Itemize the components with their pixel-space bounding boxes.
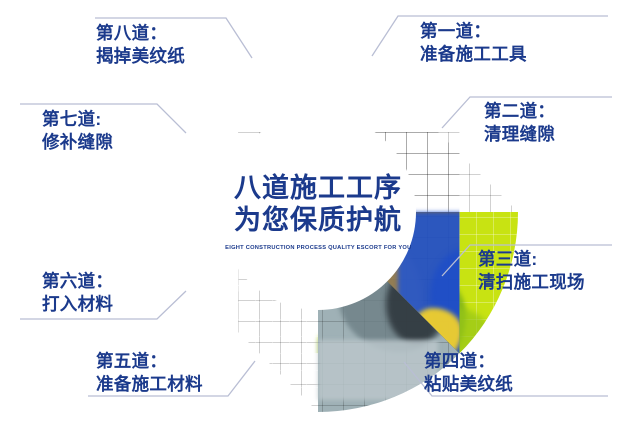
label-step-7-line1: 第七道: (42, 109, 102, 129)
label-step-2-line2: 清理缝隙 (484, 123, 555, 146)
label-step-3[interactable]: 第三道: 清扫施工现场 (478, 248, 585, 295)
label-step-2[interactable]: 第二道： 清理缝隙 (484, 100, 555, 147)
label-step-6-line1: 第六道： (42, 271, 113, 291)
label-step-5-line2: 准备施工材料 (96, 373, 203, 396)
label-step-8-line1: 第八道： (96, 23, 167, 43)
label-step-5[interactable]: 第五道： 准备施工材料 (96, 350, 203, 397)
label-step-4-line1: 第四道： (424, 351, 495, 371)
label-step-4[interactable]: 第四道： 粘贴美纹纸 (424, 350, 513, 397)
label-step-1-line2: 准备施工工具 (420, 43, 527, 66)
label-step-6[interactable]: 第六道： 打入材料 (42, 270, 113, 317)
label-step-3-line2: 清扫施工现场 (478, 271, 585, 294)
leader-line-step8 (0, 0, 628, 427)
label-step-8-line2: 揭掉美纹纸 (96, 45, 185, 68)
label-step-4-line2: 粘贴美纹纸 (424, 373, 513, 396)
label-step-1-line1: 第一道： (420, 21, 491, 41)
label-step-1[interactable]: 第一道： 准备施工工具 (420, 20, 527, 67)
label-step-7-line2: 修补缝隙 (42, 131, 113, 154)
infographic-canvas: 八道施工工序 为您保质护航 EIGHT CONSTRUCTION PROCESS… (0, 0, 628, 427)
label-step-5-line1: 第五道： (96, 351, 167, 371)
label-step-8[interactable]: 第八道： 揭掉美纹纸 (96, 22, 185, 69)
label-step-3-line1: 第三道: (478, 249, 538, 269)
label-step-7[interactable]: 第七道: 修补缝隙 (42, 108, 113, 155)
label-step-6-line2: 打入材料 (42, 293, 113, 316)
label-step-2-line1: 第二道： (484, 101, 555, 121)
